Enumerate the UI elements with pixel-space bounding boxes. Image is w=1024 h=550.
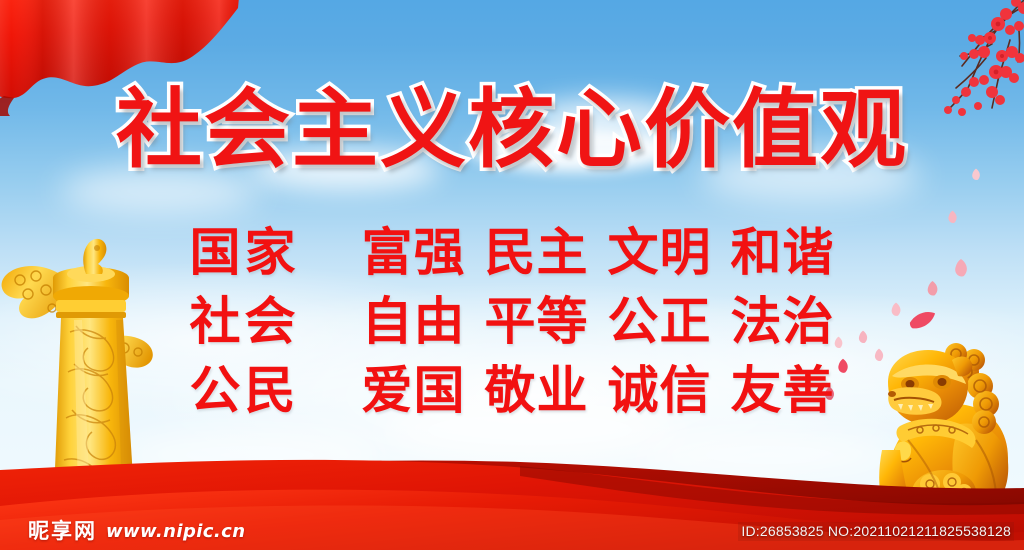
- value-word: 公正: [608, 293, 712, 353]
- brand-url-text: www.nipic.cn: [106, 522, 245, 542]
- value-word: 诚信: [608, 362, 712, 422]
- value-word: 敬业: [484, 362, 588, 422]
- value-word: 友善: [731, 362, 835, 422]
- watermark-footer: 昵享网 www.nipic.cn ID:26853825 NO:20211021…: [0, 512, 1024, 550]
- value-word: 爱国: [361, 362, 465, 422]
- value-word: 和谐: [731, 224, 835, 284]
- page-title: 社会主义核心价值观: [0, 84, 1024, 176]
- value-row-label: 社会: [189, 293, 361, 353]
- value-word: 自由: [361, 293, 465, 353]
- core-values-block: 国家 富强 民主 文明 和谐 社会 自由 平等 公正 法治 公民 爱国 敬业 诚…: [0, 224, 1024, 422]
- poster-canvas: 社会主义核心价值观 国家 富强 民主 文明 和谐 社会 自由 平等 公正 法治 …: [0, 0, 1024, 550]
- value-word: 法治: [731, 293, 835, 353]
- asset-id-text: ID:26853825 NO:20211021211825538128: [738, 522, 1014, 541]
- value-word: 民主: [484, 224, 588, 284]
- value-row: 社会 自由 平等 公正 法治: [189, 293, 834, 353]
- value-row: 国家 富强 民主 文明 和谐: [189, 224, 834, 284]
- value-row-label: 国家: [189, 224, 361, 284]
- value-row-label: 公民: [189, 362, 361, 422]
- brand-watermark: 昵享网 www.nipic.cn: [28, 520, 245, 542]
- value-word: 文明: [608, 224, 712, 284]
- value-word: 平等: [484, 293, 588, 353]
- value-word: 富强: [361, 224, 465, 284]
- falling-petal: [946, 210, 959, 224]
- brand-logo-text: 昵享网: [28, 520, 97, 542]
- value-row: 公民 爱国 敬业 诚信 友善: [189, 362, 834, 422]
